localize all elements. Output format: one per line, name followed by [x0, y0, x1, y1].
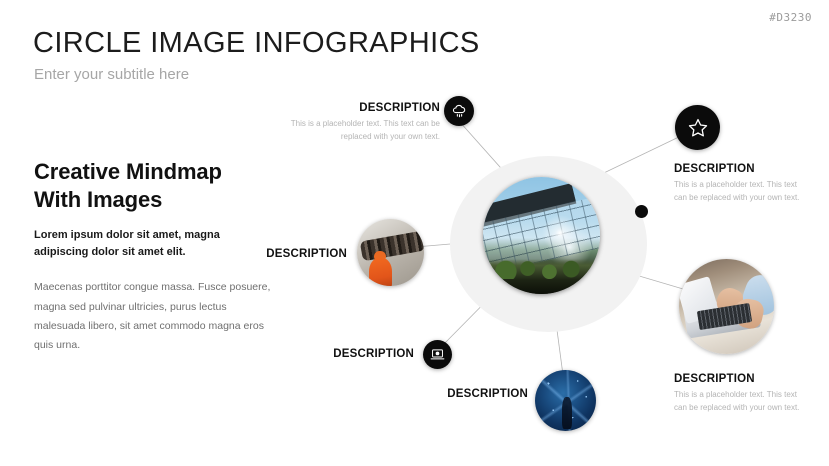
network-photo	[535, 370, 596, 431]
label-left: DESCRIPTION	[232, 248, 347, 260]
node-cloud-rain-icon[interactable]	[444, 96, 474, 126]
hub-foliage-artwork	[483, 259, 600, 294]
node-dot-icon[interactable]	[635, 205, 648, 218]
node-star-icon[interactable]	[675, 105, 720, 150]
cloud-rain-icon	[451, 103, 468, 120]
slide-canvas: #D3230 CIRCLE IMAGE INFOGRAPHICS Enter y…	[0, 0, 829, 466]
label-title: DESCRIPTION	[232, 248, 347, 260]
label-top-left: DESCRIPTION This is a placeholder text. …	[288, 102, 440, 144]
star-icon	[686, 116, 710, 140]
mindmap-diagram: DESCRIPTION This is a placeholder text. …	[0, 0, 829, 466]
label-top-right: DESCRIPTION This is a placeholder text. …	[674, 163, 802, 205]
label-title: DESCRIPTION	[288, 102, 440, 114]
label-bottom-left: DESCRIPTION	[296, 348, 414, 360]
node-network-photo[interactable]	[535, 370, 596, 431]
label-title: DESCRIPTION	[674, 373, 802, 385]
node-industrial-worker-photo[interactable]	[357, 219, 424, 286]
worker-helmet-shape	[374, 251, 385, 262]
label-title: DESCRIPTION	[296, 348, 414, 360]
label-body: This is a placeholder text. This text ca…	[288, 118, 440, 144]
label-bottom-right: DESCRIPTION This is a placeholder text. …	[674, 373, 802, 415]
node-laptop-typing-photo[interactable]	[679, 259, 774, 354]
node-laptop-icon[interactable]	[423, 340, 452, 369]
center-hub-image[interactable]	[483, 177, 600, 294]
label-title: DESCRIPTION	[674, 163, 802, 175]
label-title: DESCRIPTION	[406, 388, 528, 400]
laptop-screen-shape	[679, 276, 720, 324]
label-body: This is a placeholder text. This text ca…	[674, 389, 802, 415]
label-bottom-center: DESCRIPTION	[406, 388, 528, 400]
laptop-typing-photo	[679, 259, 774, 354]
industrial-worker-photo	[357, 219, 424, 286]
label-body: This is a placeholder text. This text ca…	[674, 179, 802, 205]
laptop-icon	[429, 346, 446, 363]
